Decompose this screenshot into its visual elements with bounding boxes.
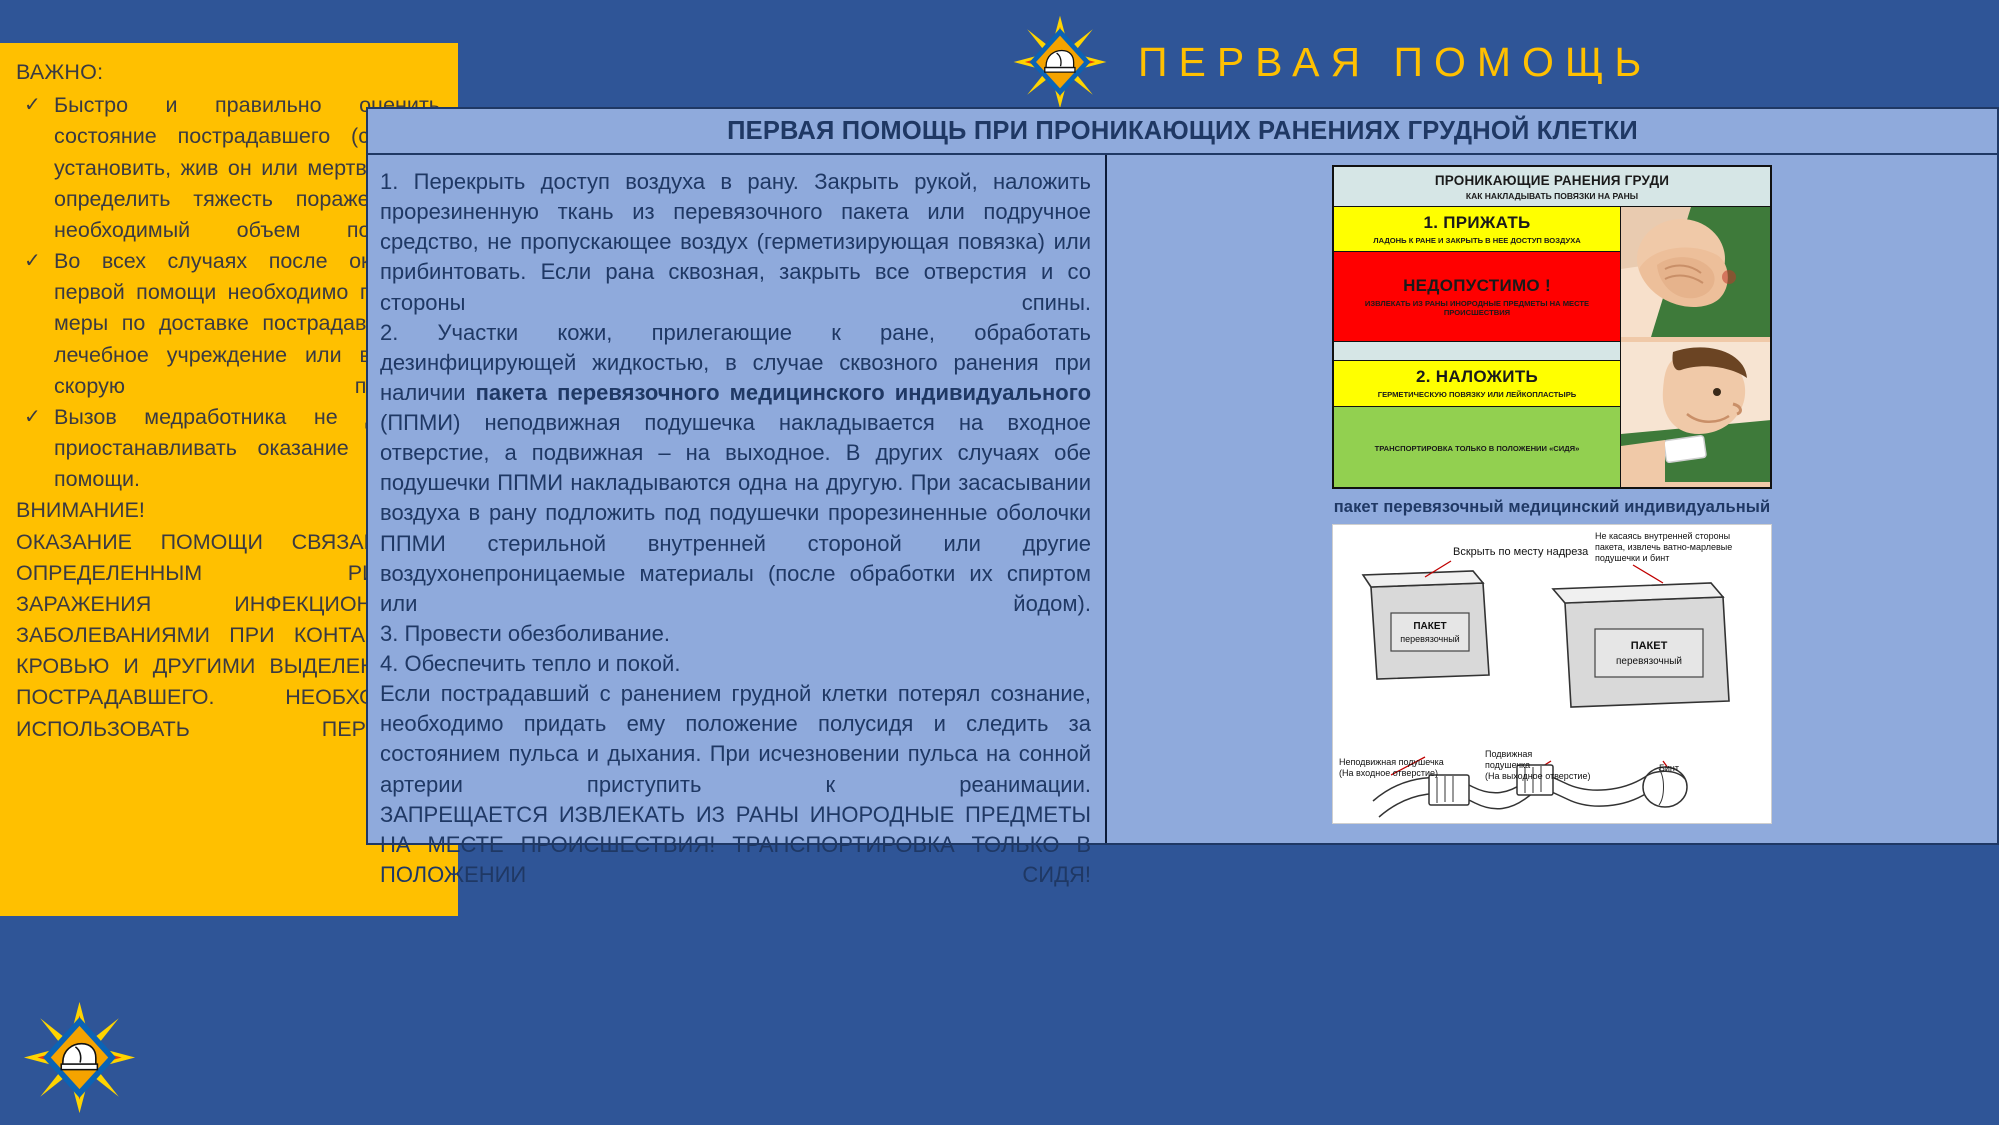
mchs-star-emblem-small [22,1000,137,1115]
infographic-second-row: . 2. НАЛОЖИТЬ ГЕРМЕТИЧЕСКУЮ ПОВЯЗКУ ИЛИ … [1334,342,1770,487]
instruction-step-1: 1. Перекрыть доступ воздуха в рану. Закр… [380,167,1091,318]
instruction-step-3: 3. Провести обезболивание. [380,619,1091,649]
step2-text: ГЕРМЕТИЧЕСКУЮ ПОВЯЗКУ ИЛИ ЛЕЙКОПЛАСТЫРЬ [1339,390,1615,399]
svg-text:(На входное отверстие): (На входное отверстие) [1339,768,1438,778]
svg-text:Неподвижная подушечка: Неподвижная подушечка [1339,757,1444,767]
infographic-main-row: 1. ПРИЖАТЬ ЛАДОНЬ К РАНЕ И ЗАКРЫТЬ В НЕЕ… [1334,207,1770,342]
spacer-band: . [1334,342,1620,361]
infographic-photo-bottom [1620,342,1770,487]
page-header: ПЕРВАЯ ПОМОЩЬ [990,18,1999,106]
transport-text: ТРАНСПОРТИРОВКА ТОЛЬКО В ПОЛОЖЕНИИ «СИДЯ… [1339,444,1615,453]
check-icon: ✓ [24,403,41,432]
infographic-subtitle: КАК НАКЛАДЫВАТЬ ПОВЯЗКИ НА РАНЫ [1338,191,1766,201]
seated-patient-bandaged-photo [1621,342,1770,487]
instruction-unconscious-note: Если пострадавший с ранением грудной кле… [380,679,1091,800]
forbidden-title: НЕДОПУСТИМО ! [1339,276,1615,296]
poster-root: ВАЖНО: ✓ Быстро и правильно оценить сост… [0,0,1999,1125]
infographic-left-bands-2: . 2. НАЛОЖИТЬ ГЕРМЕТИЧЕСКУЮ ПОВЯЗКУ ИЛИ … [1334,342,1620,487]
content-frame: ПЕРВАЯ ПОМОЩЬ ПРИ ПРОНИКАЮЩИХ РАНЕНИЯХ Г… [366,107,1999,845]
step2-part-b: (ППМИ) неподвижная подушечка накладывает… [380,410,1091,616]
forbidden-band: НЕДОПУСТИМО ! ИЗВЛЕКАТЬ ИЗ РАНЫ ИНОРОДНЫ… [1334,252,1620,342]
svg-text:ПАКЕТ: ПАКЕТ [1631,640,1668,652]
svg-text:Бинт: Бинт [1659,763,1679,773]
svg-text:перевязочный: перевязочный [1616,656,1682,667]
sidebar-heading: ВАЖНО: [16,57,440,88]
step2-band: 2. НАЛОЖИТЬ ГЕРМЕТИЧЕСКУЮ ПОВЯЗКУ ИЛИ ЛЕ… [1334,361,1620,406]
instruction-step-4: 4. Обеспечить тепло и покой. [380,649,1091,679]
infographic-title: ПРОНИКАЮЩИЕ РАНЕНИЯ ГРУДИ [1338,173,1766,188]
svg-text:перевязочный: перевязочный [1400,634,1459,644]
svg-text:пакета, извлечь ватно-марлевые: пакета, извлечь ватно-марлевые [1595,542,1732,552]
svg-text:подушечка: подушечка [1485,760,1530,770]
instructions-text-column: 1. Перекрыть доступ воздуха в рану. Закр… [368,155,1107,843]
svg-text:ПАКЕТ: ПАКЕТ [1413,621,1446,632]
mchs-star-emblem [1012,14,1108,110]
illustration-column: ПРОНИКАЮЩИЕ РАНЕНИЯ ГРУДИ КАК НАКЛАДЫВАТ… [1107,155,1997,843]
instruction-prohibition-note: ЗАПРЕЩАЕТСЯ ИЗВЛЕКАТЬ ИЗ РАНЫ ИНОРОДНЫЕ … [380,800,1091,890]
bandage-package-diagram: ПАКЕТ перевязочный ПАКЕТ перевязочный [1332,524,1772,824]
step1-band: 1. ПРИЖАТЬ ЛАДОНЬ К РАНЕ И ЗАКРЫТЬ В НЕЕ… [1334,207,1620,252]
transport-band: ТРАНСПОРТИРОВКА ТОЛЬКО В ПОЛОЖЕНИИ «СИДЯ… [1334,407,1620,487]
infographic-photo-top [1620,207,1770,342]
chest-wound-infographic: ПРОНИКАЮЩИЕ РАНЕНИЯ ГРУДИ КАК НАКЛАДЫВАТ… [1332,165,1772,489]
instruction-step-2: 2. Участки кожи, прилегающие к ране, обр… [380,318,1091,619]
step2-bold-term: пакета перевязочного медицинского индиви… [476,380,1091,405]
step1-title: 1. ПРИЖАТЬ [1339,213,1615,233]
step1-text: ЛАДОНЬ К РАНЕ И ЗАКРЫТЬ В НЕЕ ДОСТУП ВОЗ… [1339,236,1615,245]
svg-text:Подвижная: Подвижная [1485,749,1532,759]
package-caption: пакет перевязочный медицинский индивидуа… [1334,498,1771,517]
step2-title: 2. НАЛОЖИТЬ [1339,367,1615,387]
svg-text:подушечки и бинт: подушечки и бинт [1595,553,1669,563]
check-icon: ✓ [24,91,41,120]
page-title: ПЕРВАЯ ПОМОЩЬ [1138,39,1652,86]
infographic-left-bands: 1. ПРИЖАТЬ ЛАДОНЬ К РАНЕ И ЗАКРЫТЬ В НЕЕ… [1334,207,1620,342]
svg-text:Вскрыть по месту надреза: Вскрыть по месту надреза [1453,546,1589,558]
content-body: 1. Перекрыть доступ воздуха в рану. Закр… [368,155,1997,843]
hand-pressing-wound-photo [1621,207,1770,342]
svg-text:(На выходное отверстие): (На выходное отверстие) [1485,771,1590,781]
infographic-header: ПРОНИКАЮЩИЕ РАНЕНИЯ ГРУДИ КАК НАКЛАДЫВАТ… [1334,167,1770,207]
svg-text:Не касаясь внутренней стороны: Не касаясь внутренней стороны [1595,531,1730,541]
section-subtitle: ПЕРВАЯ ПОМОЩЬ ПРИ ПРОНИКАЮЩИХ РАНЕНИЯХ Г… [368,109,1997,155]
check-icon: ✓ [24,247,41,276]
forbidden-text: ИЗВЛЕКАТЬ ИЗ РАНЫ ИНОРОДНЫЕ ПРЕДМЕТЫ НА … [1339,299,1615,318]
